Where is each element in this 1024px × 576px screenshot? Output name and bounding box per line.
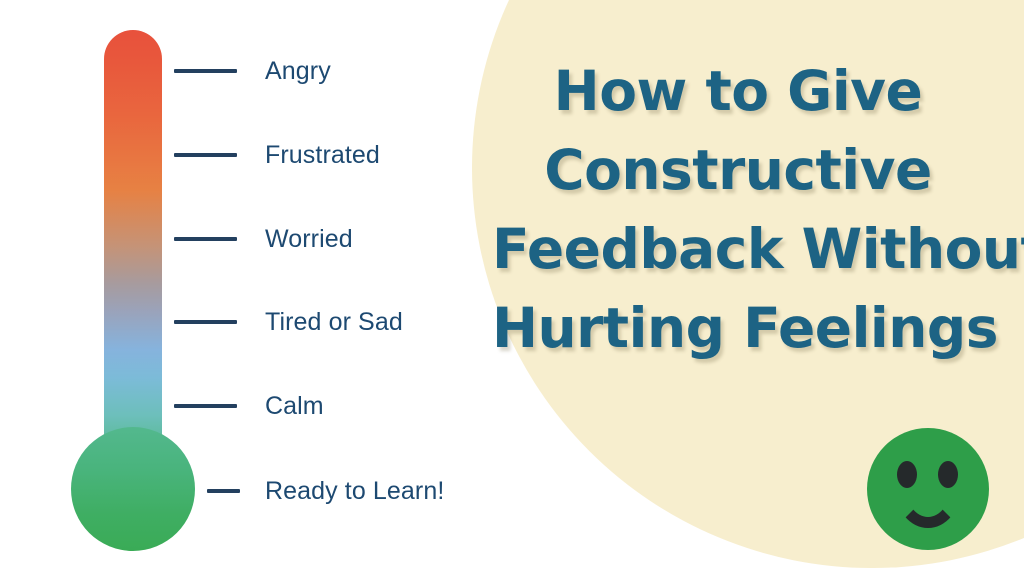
tick-mark-icon bbox=[174, 320, 237, 324]
headline-line-3: Feedback Without bbox=[492, 210, 984, 289]
feelings-thermometer: Angry Frustrated Worried Tired or Sad Ca… bbox=[0, 0, 470, 576]
scale-label-calm: Calm bbox=[265, 390, 324, 422]
smiley-right-eye bbox=[938, 461, 958, 488]
headline-line-2: Constructive bbox=[492, 131, 984, 210]
scale-label-worried: Worried bbox=[265, 223, 353, 255]
tick-mark-icon bbox=[174, 69, 237, 73]
page-title: How to Give Constructive Feedback Withou… bbox=[492, 52, 984, 368]
tick-mark-icon bbox=[174, 237, 237, 241]
tick-mark-icon bbox=[174, 404, 237, 408]
tick-mark-icon bbox=[174, 153, 237, 157]
scale-label-angry: Angry bbox=[265, 55, 331, 87]
smiley-left-eye bbox=[897, 461, 917, 488]
headline-line-1: How to Give bbox=[492, 52, 984, 131]
scale-label-ready-to-learn: Ready to Learn! bbox=[265, 475, 444, 507]
tick-mark-icon bbox=[207, 489, 240, 493]
scale-label-tired-or-sad: Tired or Sad bbox=[265, 306, 403, 338]
thermometer-bulb bbox=[71, 427, 195, 551]
scale-label-frustrated: Frustrated bbox=[265, 139, 380, 171]
slide-canvas: Angry Frustrated Worried Tired or Sad Ca… bbox=[0, 0, 1024, 576]
smiley-face-icon bbox=[867, 428, 989, 550]
headline-line-4: Hurting Feelings bbox=[492, 289, 984, 368]
